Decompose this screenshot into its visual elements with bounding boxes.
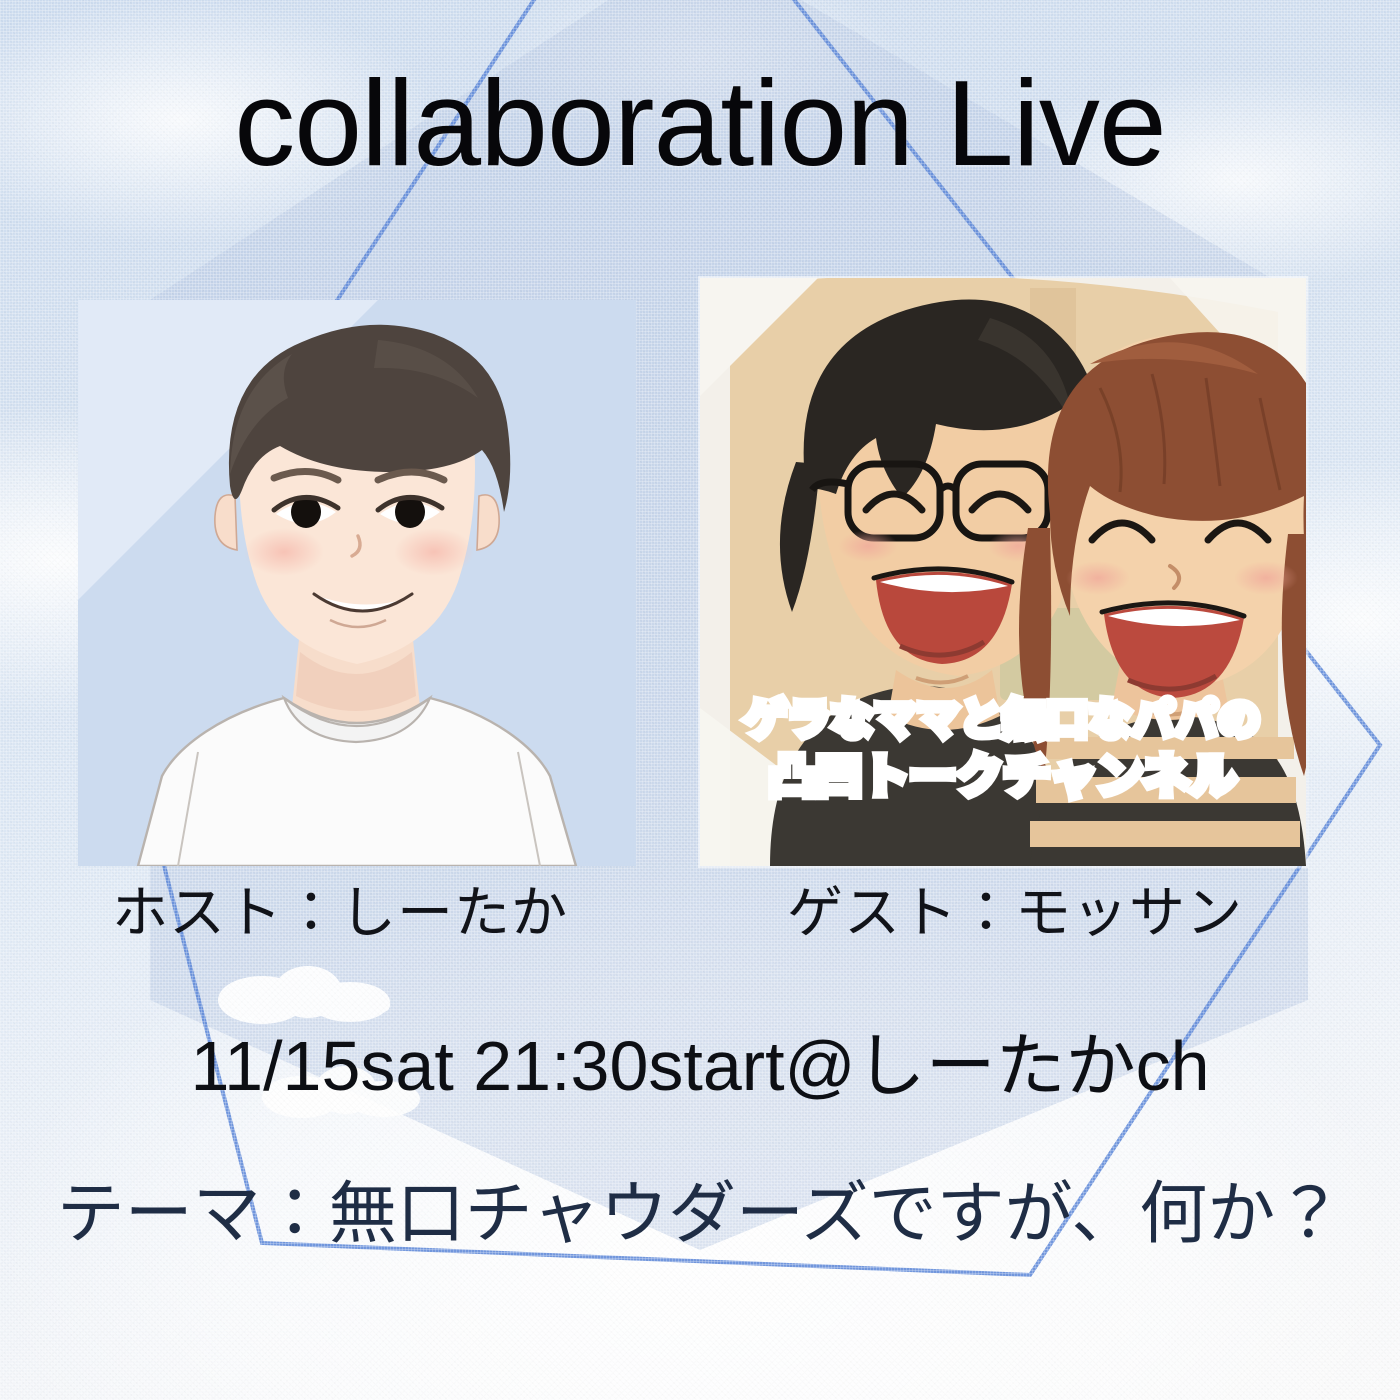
host-label: ホスト：しーたか (0, 868, 700, 949)
svg-text:凸凹トークチャンネル: 凸凹トークチャンネル (769, 750, 1238, 802)
theme-text: テーマ：無口チャウダーズですが、何か？ (0, 1158, 1400, 1257)
schedule-text: 11/15sat 21:30start@しーたかch (0, 1010, 1400, 1111)
host-portrait (78, 300, 636, 866)
poster-canvas: ゲラなママと無口なパパの ゲラなママと無口なパパの 凸凹トークチャンネル 凸凹ト… (0, 0, 1400, 1400)
page-title: collaboration Live (0, 62, 1400, 184)
guest-label: ゲスト：モッサン (700, 868, 1400, 949)
guest-channel-artwork: ゲラなママと無口なパパの ゲラなママと無口なパパの 凸凹トークチャンネル 凸凹ト… (700, 278, 1306, 866)
svg-text:ゲラなママと無口なパパの: ゲラなママと無口なパパの (745, 696, 1261, 743)
participant-labels: ホスト：しーたか ゲスト：モッサン (0, 868, 1400, 948)
